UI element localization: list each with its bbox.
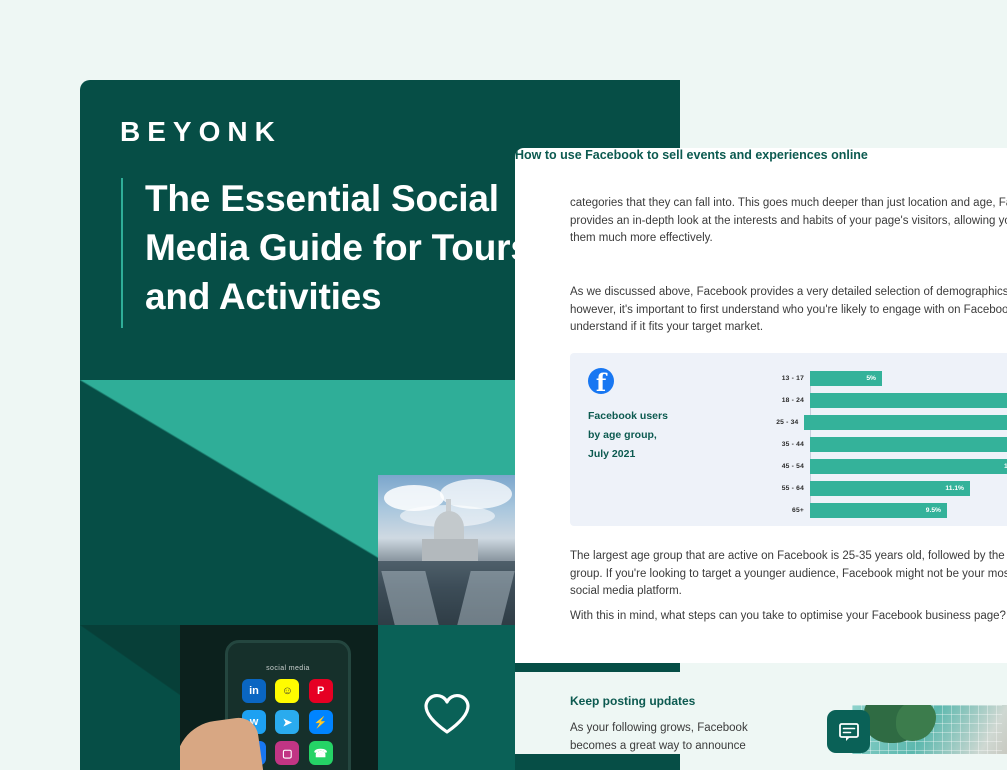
telegram-app-icon: ➤ <box>275 710 299 734</box>
chat-widget-button[interactable] <box>827 710 870 753</box>
paragraph-with-this-in-mind: With this in mind, what steps can you ta… <box>570 608 1007 626</box>
messenger-app-icon: ⚡ <box>309 710 333 734</box>
chart-bar-row: 35 - 4418.5% <box>770 437 1007 452</box>
chart-bar: 11.1% <box>810 481 970 496</box>
pinterest-app-icon: P <box>309 679 333 703</box>
document-page-next: Keep posting updates As your following g… <box>515 672 1007 754</box>
phone-folder-label: social media <box>228 665 348 672</box>
chart-category-label: 55 - 64 <box>770 485 810 492</box>
chart-category-label: 45 - 54 <box>770 463 810 470</box>
paragraph-demographics: As we discussed above, Facebook provides… <box>570 284 1007 337</box>
chart-caption: Facebook users by age group, July 2021 <box>588 407 708 464</box>
chart-caption-line-1: Facebook users <box>588 407 708 426</box>
linkedin-app-icon: in <box>242 679 266 703</box>
chat-bubble-icon <box>838 722 860 742</box>
brand-logo: BEYONK <box>120 118 282 146</box>
chart-bar-value: 9.5% <box>926 507 941 514</box>
chart-legend-block: f Facebook users by age group, July 2021 <box>588 368 708 464</box>
paragraph-keep-posting: As your following grows, Facebook become… <box>570 720 785 754</box>
chart-plot-area: 13 - 175%18 - 2415.7%25 - 3423.6%35 - 44… <box>770 371 1007 512</box>
paragraph-largest-age-group: The largest age group that are active on… <box>570 548 1007 601</box>
instagram-app-icon: ▢ <box>275 741 299 765</box>
section-heading-keep-posting-updates: Keep posting updates <box>570 694 695 708</box>
chart-category-label: 65+ <box>770 507 810 514</box>
chart-bar-row: 65+9.5% <box>770 503 1007 518</box>
chart-bar: 9.5% <box>810 503 947 518</box>
paragraph-intro: categories that they can fall into. This… <box>570 195 1007 248</box>
chart-bar-value: 5% <box>866 375 876 382</box>
chart-category-label: 35 - 44 <box>770 441 810 448</box>
chart-bar: 15.2% <box>810 459 1007 474</box>
photo-st-pauls-crowd <box>378 475 515 625</box>
heart-block <box>378 625 515 770</box>
hand-shape <box>180 715 264 770</box>
chart-category-label: 13 - 17 <box>770 375 810 382</box>
facebook-icon: f <box>588 368 614 394</box>
title-accent-line <box>121 178 123 328</box>
cathedral-body-shape <box>422 539 478 561</box>
section-heading-how-to-use-facebook: How to use Facebook to sell events and e… <box>515 148 1007 162</box>
chart-bar: 15.7% <box>810 393 1007 408</box>
facebook-age-chart-card: f Facebook users by age group, July 2021… <box>570 353 1007 526</box>
chart-bar-row: 45 - 5415.2% <box>770 459 1007 474</box>
photo-phone-social-apps: social media in ☺ P w ➤ ⚡ f ▢ ☎ <box>180 625 378 770</box>
chart-category-label: 25 - 34 <box>770 419 804 426</box>
chart-bar: 18.5% <box>810 437 1007 452</box>
chart-bar-row: 18 - 2415.7% <box>770 393 1007 408</box>
photo-office-woman-plants <box>852 705 1007 754</box>
chart-bar-row: 13 - 175% <box>770 371 1007 386</box>
document-page: categories that they can fall into. This… <box>515 148 1007 663</box>
chart-bar: 5% <box>810 371 882 386</box>
snapchat-app-icon: ☺ <box>275 679 299 703</box>
chart-caption-line-3: July 2021 <box>588 445 708 464</box>
chart-bar: 23.6% <box>804 415 1007 430</box>
chart-category-label: 18 - 24 <box>770 397 810 404</box>
chart-bar-row: 55 - 6411.1% <box>770 481 1007 496</box>
whatsapp-app-icon: ☎ <box>309 741 333 765</box>
cover-title: The Essential Social Media Guide for Tou… <box>145 174 565 321</box>
chart-caption-line-2: by age group, <box>588 426 708 445</box>
chart-bar-row: 25 - 3423.6% <box>770 415 1007 430</box>
heart-icon <box>424 693 470 735</box>
chart-bar-value: 11.1% <box>945 485 964 492</box>
